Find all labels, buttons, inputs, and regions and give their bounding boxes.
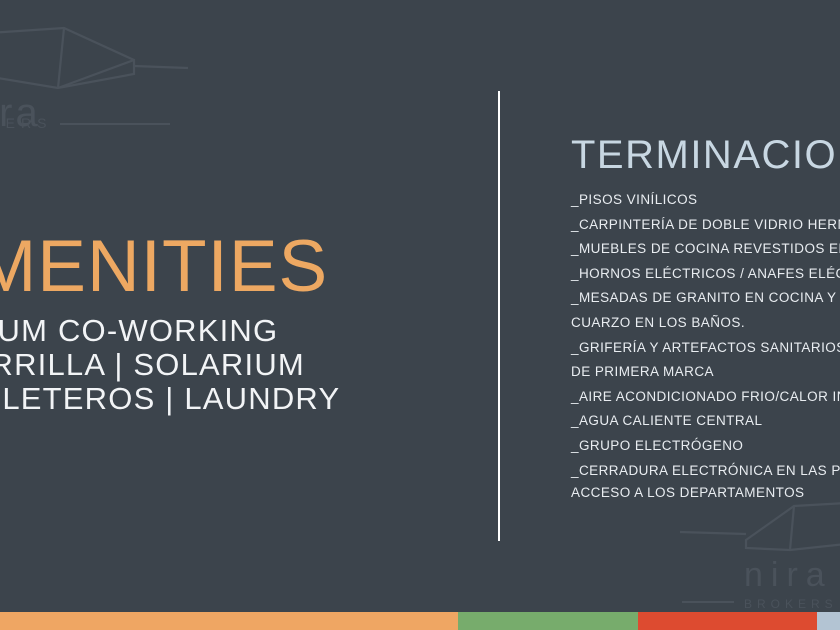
- amenities-title: AMENITIES: [0, 228, 382, 306]
- list-item: _HORNOS ELÉCTRICOS / ANAFES ELÉCTRICOS: [571, 262, 840, 287]
- list-item: _PISOS VINÍLICOS: [571, 188, 840, 213]
- amenities-line-1: SUM CO-WORKING: [0, 314, 382, 348]
- amenities-line-2: PARRILLA | SOLARIUM: [0, 348, 382, 382]
- watermark-brand-sub: BROKERS: [0, 115, 52, 131]
- list-item: ACCESO A LOS DEPARTAMENTOS: [571, 483, 840, 503]
- watermark-brokers-rule-icon: BROKERS: [0, 110, 192, 140]
- presentation-slide: nira BROKERS nira BROKERS AMENITIES: [0, 0, 840, 630]
- amenities-line-3: BICICLETEROS | LAUNDRY: [0, 382, 382, 416]
- list-item: DE PRIMERA MARCA: [571, 360, 840, 385]
- house-roof-outline-icon: nira BROKERS: [668, 498, 840, 613]
- watermark-logo-top-left: nira: [0, 26, 188, 141]
- bottom-color-bar: [0, 612, 840, 630]
- watermark-sub-top-left: BROKERS: [0, 110, 192, 140]
- color-bar-segment-orange: [0, 612, 458, 630]
- list-item: _GRIFERÍA Y ARTEFACTOS SANITARIOS: [571, 336, 840, 361]
- list-item: _AGUA CALIENTE CENTRAL: [571, 409, 840, 434]
- watermark-brand-name: nira: [744, 556, 833, 594]
- watermark-logo-bottom-right: nira BROKERS: [668, 498, 840, 613]
- list-item: _AIRE ACONDICIONADO FRIO/CALOR INSTALADO: [571, 385, 840, 410]
- amenities-section: AMENITIES SUM CO-WORKING PARRILLA | SOLA…: [0, 228, 382, 416]
- amenities-list: SUM CO-WORKING PARRILLA | SOLARIUM BICIC…: [0, 314, 382, 416]
- watermark-brand-name: nira: [0, 91, 41, 135]
- list-item: CUARZO EN LOS BAÑOS.: [571, 311, 840, 336]
- color-bar-segment-green: [458, 612, 638, 630]
- list-item: _CERRADURA ELECTRÓNICA EN LAS PUERTAS DE: [571, 459, 840, 484]
- house-roof-outline-icon: nira: [0, 26, 188, 141]
- list-item: _MUEBLES DE COCINA REVESTIDOS EN MELAMIN…: [571, 237, 840, 262]
- color-bar-segment-red: [638, 612, 817, 630]
- terminaciones-title: TERMINACIONES: [571, 132, 840, 178]
- terminaciones-list: _PISOS VINÍLICOS _CARPINTERÍA DE DOBLE V…: [571, 188, 840, 503]
- watermark-brand-sub: BROKERS: [744, 597, 838, 611]
- vertical-divider: [498, 91, 500, 541]
- color-bar-segment-blue: [817, 612, 840, 630]
- list-item: _GRUPO ELECTRÓGENO: [571, 434, 840, 459]
- terminaciones-section: TERMINACIONES _PISOS VINÍLICOS _CARPINTE…: [571, 132, 840, 503]
- list-item: _CARPINTERÍA DE DOBLE VIDRIO HERMÉTICO: [571, 213, 840, 238]
- list-item: _MESADAS DE GRANITO EN COCINA Y MÁRMOL: [571, 286, 840, 311]
